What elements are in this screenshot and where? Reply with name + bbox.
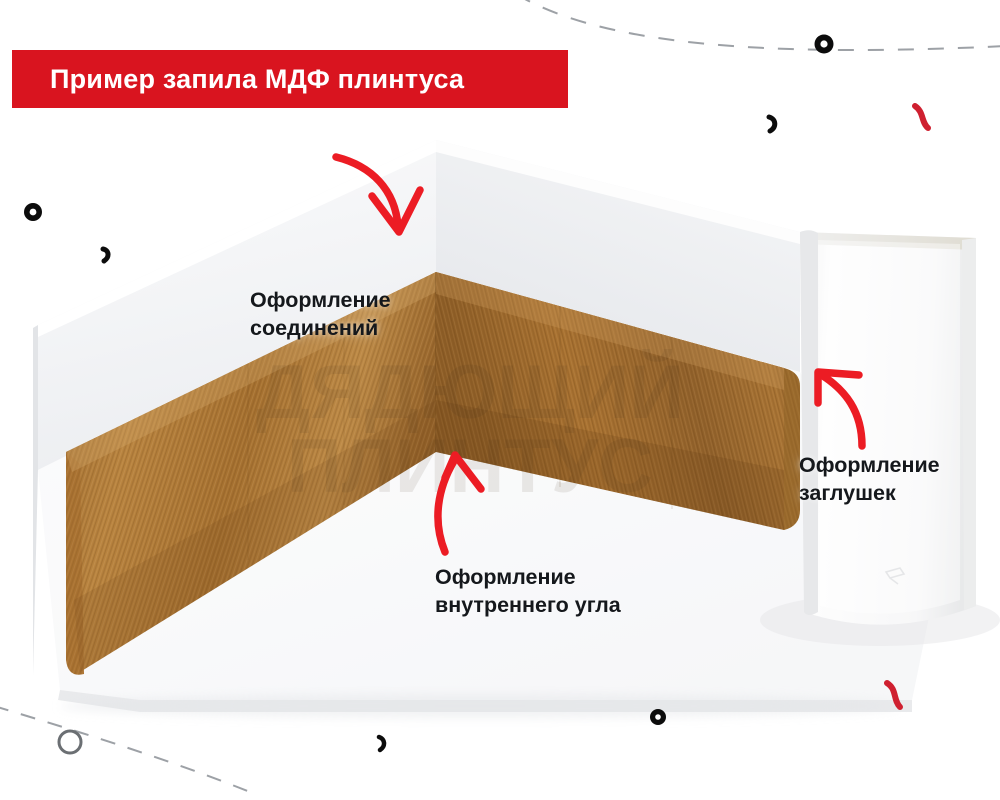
callout-inner-angle: Оформление внутреннего угла <box>435 563 621 620</box>
watermark-line-2: ПЛИНТУС <box>287 424 653 509</box>
doodle-comma-bottom <box>379 737 384 750</box>
scene-illustration: ДЯДЮЩИЙ ПЛИНТУС <box>0 0 1000 800</box>
doodle-ring-topright <box>815 35 834 54</box>
callout-end-caps: Оформление заглушек <box>799 451 940 508</box>
doodle-ring-bottom <box>650 709 666 725</box>
title-banner-label: Пример запила МДФ плинтуса <box>12 64 464 95</box>
doodle-dashed-arc-top <box>516 0 1000 50</box>
doodle-ring-left <box>24 203 42 221</box>
title-banner: Пример запила МДФ плинтуса <box>12 50 568 108</box>
baseboard-photo: ДЯДЮЩИЙ ПЛИНТУС <box>0 0 1000 800</box>
watermark: ДЯДЮЩИЙ ПЛИНТУС <box>256 349 684 509</box>
ring-hollow-icon <box>59 731 81 753</box>
doodle-comma-left <box>103 249 108 261</box>
watermark-line-1: ДЯДЮЩИЙ <box>256 349 684 435</box>
doodle-comma-topright <box>769 117 775 131</box>
screenshot-canvas: ДЯДЮЩИЙ ПЛИНТУС <box>0 0 1000 800</box>
callout-joints: Оформление соединений <box>250 286 391 343</box>
doodle-squiggle-topright <box>915 106 928 128</box>
doodle-dashed-arc-bottom <box>0 706 250 792</box>
